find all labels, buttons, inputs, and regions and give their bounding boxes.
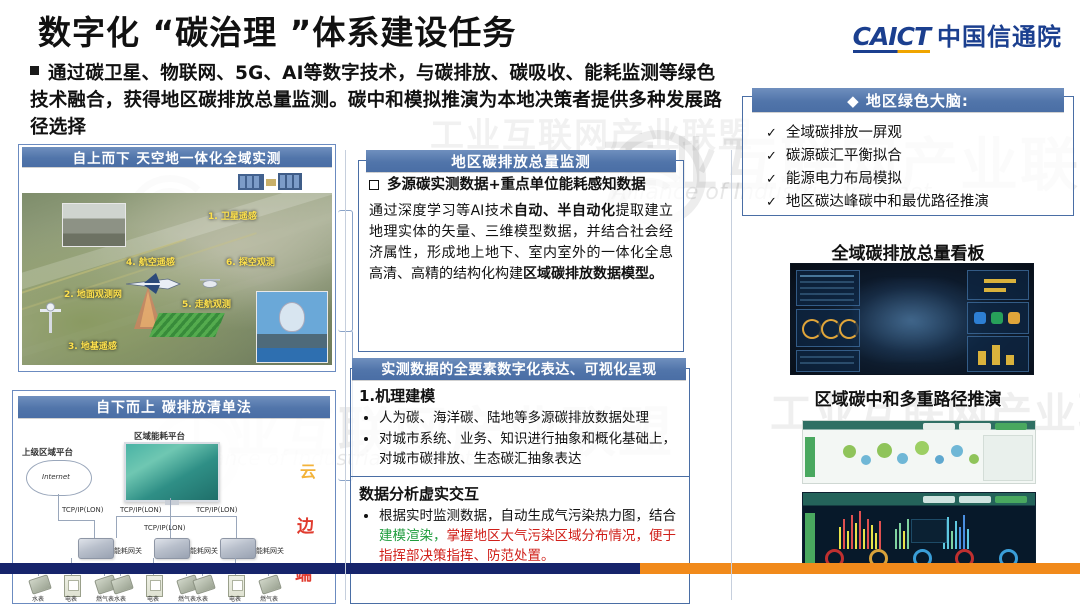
mid-panel-1-heading-text: 多源碳实测数据+重点单位能耗感知数据 bbox=[387, 175, 646, 195]
device-label-5: 电表 bbox=[147, 594, 159, 603]
device-label-4: 水表 bbox=[114, 594, 126, 603]
mid-panel-2-section-1-list: 人为碳、海洋碳、陆地等多源碳排放数据处理 对城市系统、业务、知识进行抽象和概化基… bbox=[359, 408, 681, 469]
tier-label-cloud: 云 bbox=[300, 458, 316, 482]
dash1-left-card-mid bbox=[796, 309, 860, 347]
bubble bbox=[935, 455, 944, 464]
mid-panel-1-body: 通过深度学习等AI技术自动、半自动化提取建立地理实体的矢量、三维模型数据，并结合… bbox=[369, 201, 673, 285]
check-icon: ✓ bbox=[766, 123, 777, 145]
list-item-label: 能源电力布局模拟 bbox=[786, 168, 902, 190]
list-item: ✓ 碳源碳汇平衡拟合 bbox=[766, 145, 1066, 168]
sat-label-2: 2. 地面观测网 bbox=[64, 287, 122, 300]
list-item: ✓ 能源电力布局模拟 bbox=[766, 168, 1066, 191]
bubble bbox=[861, 455, 871, 465]
caict-logo: CAICT 中国信通院 bbox=[853, 24, 1062, 53]
logo-latin-text: CAICT bbox=[853, 24, 930, 53]
protocol-label-2: TCP/IP(LON) bbox=[120, 506, 161, 514]
left-bottom-caption: 自下而上 碳排放清单法 bbox=[18, 396, 330, 418]
dash1-left-card-bot bbox=[796, 350, 860, 372]
dash1-right-card-bot bbox=[967, 336, 1029, 372]
protocol-label-4: TCP/IP(LON) bbox=[196, 506, 237, 514]
logo-chinese-text: 中国信通院 bbox=[937, 25, 1062, 53]
gateway-label-2: 能耗网关 bbox=[190, 546, 218, 556]
device-label-7: 水表 bbox=[196, 594, 208, 603]
mid-panel-1-heading: 多源碳实测数据+重点单位能耗感知数据 bbox=[369, 175, 673, 195]
protocol-label-3: TCP/IP(LON) bbox=[144, 524, 185, 532]
drone-icon bbox=[198, 277, 222, 289]
divider-line-right bbox=[731, 150, 732, 600]
bubble bbox=[877, 443, 892, 458]
list-item: 人为碳、海洋碳、陆地等多源碳排放数据处理 bbox=[379, 408, 681, 428]
divider-line-left bbox=[345, 150, 346, 600]
body-seg-4: 区域碳排放数据模型。 bbox=[523, 266, 663, 282]
bubble bbox=[915, 441, 929, 455]
gateway-2 bbox=[154, 538, 190, 559]
mid-panel-1-caption: 地区碳排放总量监测 bbox=[366, 150, 676, 172]
ground-radar-icon bbox=[38, 301, 64, 335]
check-icon: ✓ bbox=[766, 169, 777, 191]
protocol-label-1: TCP/IP(LON) bbox=[62, 506, 103, 514]
sat-label-5: 5. 走航观测 bbox=[182, 297, 231, 310]
inset-photo-ground-station bbox=[62, 203, 126, 247]
bullet-square-icon bbox=[30, 66, 39, 75]
gateway-3 bbox=[220, 538, 256, 559]
green-field-patch bbox=[149, 313, 225, 337]
list-item: ✓ 全域碳排放一屏观 bbox=[766, 122, 1066, 145]
upstream-label: 上级区域平台 bbox=[22, 446, 73, 458]
gateway-1 bbox=[78, 538, 114, 559]
list-item: ✓ 地区碳达峰碳中和最优路径推演 bbox=[766, 191, 1066, 214]
device-water-1 bbox=[28, 574, 52, 594]
list-item: 根据实时监测数据，自动生成气污染热力图，结合建模渲染，掌握地区大气污染区域分布情… bbox=[379, 506, 681, 566]
seg-black: 根据实时监测数据，自动生成气污染热力图，结合 bbox=[379, 508, 676, 524]
bubble bbox=[843, 445, 856, 458]
sat-label-6: 6. 探空观测 bbox=[226, 255, 275, 268]
check-icon: ✓ bbox=[766, 192, 777, 214]
intro-bullet: 通过碳卫星、物联网、5G、AI等数字技术，与碳排放、碳吸收、能耗监测等绿色技术融… bbox=[30, 60, 730, 141]
hollow-square-bullet-icon bbox=[369, 180, 379, 190]
check-icon: ✓ bbox=[766, 146, 777, 168]
device-label-1: 水表 bbox=[32, 594, 44, 603]
dashboard-3-screenshot bbox=[802, 492, 1036, 572]
list-item: 对城市系统、业务、知识进行抽象和概化基础上，对城市碳排放、生态碳汇抽象表达 bbox=[379, 429, 681, 469]
body-seg-2: 自动、半自动化 bbox=[514, 203, 616, 219]
device-label-9: 燃气表 bbox=[260, 594, 278, 603]
map-blob bbox=[853, 278, 981, 362]
device-label-2: 电表 bbox=[65, 594, 77, 603]
intro-bullet-text: 通过碳卫星、物联网、5G、AI等数字技术，与碳排放、碳吸收、能耗监测等绿色技术融… bbox=[30, 63, 722, 138]
dashboard-2-caption: 区域碳中和多重路径推演 bbox=[740, 385, 1076, 410]
mid-panel-2-section-1-title: 1.机理建模 bbox=[359, 385, 681, 406]
satellite-terrain-photo: 1. 卫星遥感 2. 地面观测网 3. 地基遥感 4. 航空遥感 5. 走航观测… bbox=[22, 193, 332, 365]
gateway-label-1: 能耗网关 bbox=[114, 546, 142, 556]
cloud-label: Internet bbox=[42, 473, 70, 481]
list-item-label: 地区碳达峰碳中和最优路径推演 bbox=[786, 191, 989, 213]
dash1-left-card-top bbox=[796, 270, 860, 306]
slide-canvas: 工业互联网产业联盟 Alliance of Industrial Interne… bbox=[0, 0, 1080, 608]
green-brain-caption: ◆ 地区绿色大脑: bbox=[752, 88, 1064, 112]
dashboard-1-screenshot bbox=[790, 263, 1034, 375]
list-item-label: 碳源碳汇平衡拟合 bbox=[786, 145, 902, 167]
device-label-3: 燃气表 bbox=[96, 594, 114, 603]
platform-title: 区域能耗平台 bbox=[134, 430, 185, 442]
tier-label-edge: 边 bbox=[297, 512, 314, 537]
mid-panel-monitoring: 多源碳实测数据+重点单位能耗感知数据 通过深度学习等AI技术自动、半自动化提取建… bbox=[358, 160, 684, 352]
bottom-stripe-left bbox=[0, 563, 103, 574]
mid-panel-2-divider bbox=[351, 476, 689, 477]
mid-panel-2-section-2-list: 根据实时监测数据，自动生成气污染热力图，结合建模渲染，掌握地区大气污染区域分布情… bbox=[359, 506, 681, 566]
bottom-stripe-navy bbox=[103, 563, 643, 574]
sat-label-4: 4. 航空遥感 bbox=[126, 255, 175, 268]
page-title: 数字化 “碳治理 ”体系建设任务 bbox=[38, 6, 516, 54]
bubble bbox=[897, 453, 908, 464]
mid-panel-2-caption: 实测数据的全要素数字化表达、可视化呈现 bbox=[352, 358, 686, 380]
body-seg-1: 通过深度学习等AI技术 bbox=[369, 203, 514, 219]
dash1-right-card-mid bbox=[967, 302, 1029, 334]
inset-photo-balloon bbox=[256, 291, 328, 363]
device-gas-3 bbox=[258, 574, 282, 594]
device-label-6: 燃气表 bbox=[178, 594, 196, 603]
bottom-stripe-orange bbox=[640, 563, 1080, 574]
sat-label-3: 3. 地基遥感 bbox=[68, 339, 117, 352]
balloon-shape bbox=[279, 302, 305, 332]
left-top-caption: 自上而下 天空地一体化全域实测 bbox=[22, 147, 332, 167]
sat-label-1: 1. 卫星遥感 bbox=[208, 209, 257, 222]
dashboard-1-caption: 全域碳排放总量看板 bbox=[740, 239, 1076, 264]
dash1-right-card-top bbox=[967, 270, 1029, 300]
gateway-label-3: 能耗网关 bbox=[256, 546, 284, 556]
device-label-8: 电表 bbox=[229, 594, 241, 603]
dashboard-2-screenshot bbox=[802, 420, 1036, 484]
region-platform-screen bbox=[124, 442, 220, 502]
seg-green: 建模渲染， bbox=[379, 528, 447, 544]
list-item-label: 全域碳排放一屏观 bbox=[786, 122, 902, 144]
bubble bbox=[969, 454, 979, 464]
bubble bbox=[951, 445, 963, 457]
green-brain-list: ✓ 全域碳排放一屏观 ✓ 碳源碳汇平衡拟合 ✓ 能源电力布局模拟 ✓ 地区碳达峰… bbox=[766, 122, 1066, 214]
mid-panel-2-section-2-title: 数据分析虚实交互 bbox=[359, 483, 681, 504]
